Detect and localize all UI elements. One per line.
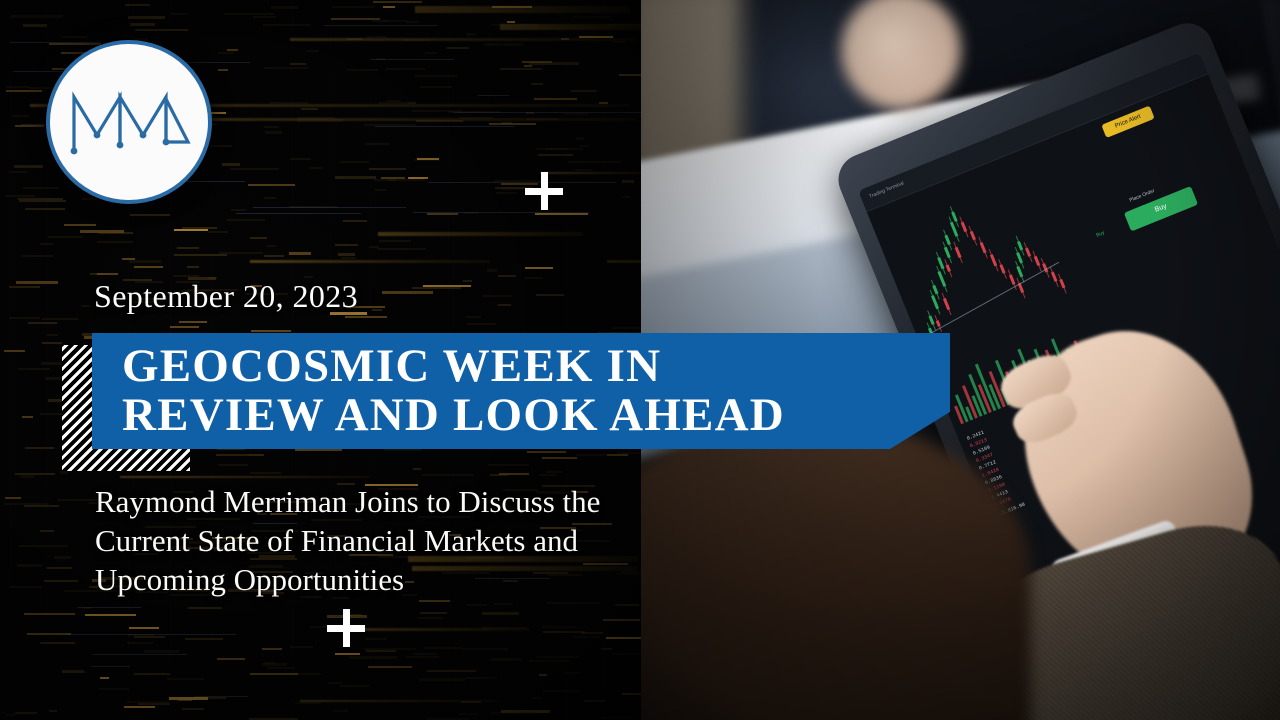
video-thumbnail: Trading Terminal Price Alert Place Order…	[0, 0, 1280, 720]
plus-icon-vertical	[541, 172, 548, 210]
mma-logo[interactable]	[46, 40, 212, 204]
subtitle: Raymond Merriman Joins to Discuss the Cu…	[95, 482, 655, 599]
title-banner: Geocosmic Week In Review and Look Ahead	[92, 333, 950, 449]
plus-icon	[327, 609, 365, 647]
mma-logo-mark	[67, 85, 191, 159]
page-title: Geocosmic Week In Review and Look Ahead	[92, 342, 785, 440]
plus-icon	[525, 172, 563, 210]
plus-icon-vertical	[343, 609, 350, 647]
date-label: September 20, 2023	[94, 278, 358, 315]
